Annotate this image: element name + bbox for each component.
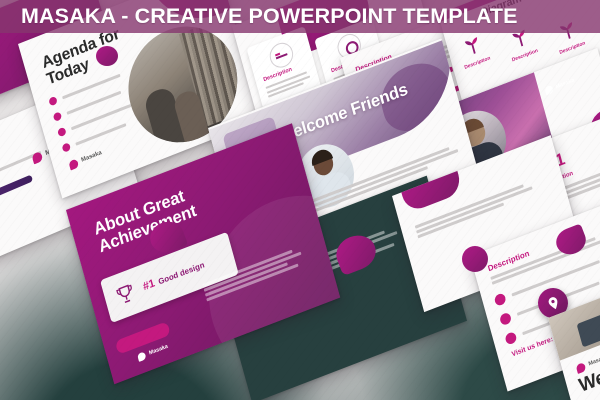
- page-title: MASAKA - CREATIVE POWERPOINT TEMPLATE: [0, 4, 518, 29]
- screenshot-root: Masaka Agenda for Today: [0, 0, 600, 400]
- scene-texture-overlay: [0, 0, 600, 400]
- title-banner: MASAKA - CREATIVE POWERPOINT TEMPLATE: [0, 0, 600, 33]
- presentation-mockup-scene: Masaka Agenda for Today: [0, 0, 600, 400]
